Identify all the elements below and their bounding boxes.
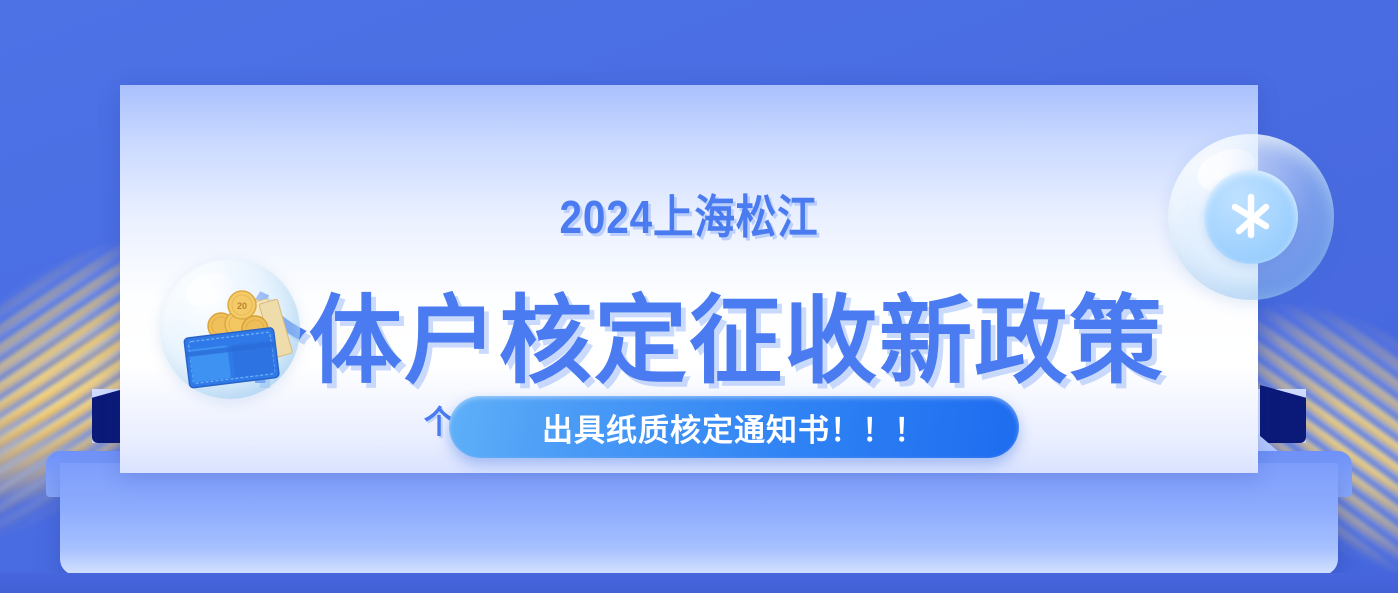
page-title: 2024上海松江 <box>188 181 1189 247</box>
headline-text: 个体户核定征收新政策 <box>137 263 1241 402</box>
promo-banner: 2024上海松江 个体户核定征收新政策 个人所得税低至0.5% 综合税率1.56… <box>0 0 1398 593</box>
svg-text:20: 20 <box>237 301 247 311</box>
sparkle-asterisk-icon <box>1204 170 1298 264</box>
wallet-money-icon: 20 <box>160 259 300 399</box>
box-body <box>60 463 1338 575</box>
box-base-shadow <box>0 573 1398 593</box>
cta-button[interactable]: 出具纸质核定通知书！！！ <box>449 396 1019 458</box>
